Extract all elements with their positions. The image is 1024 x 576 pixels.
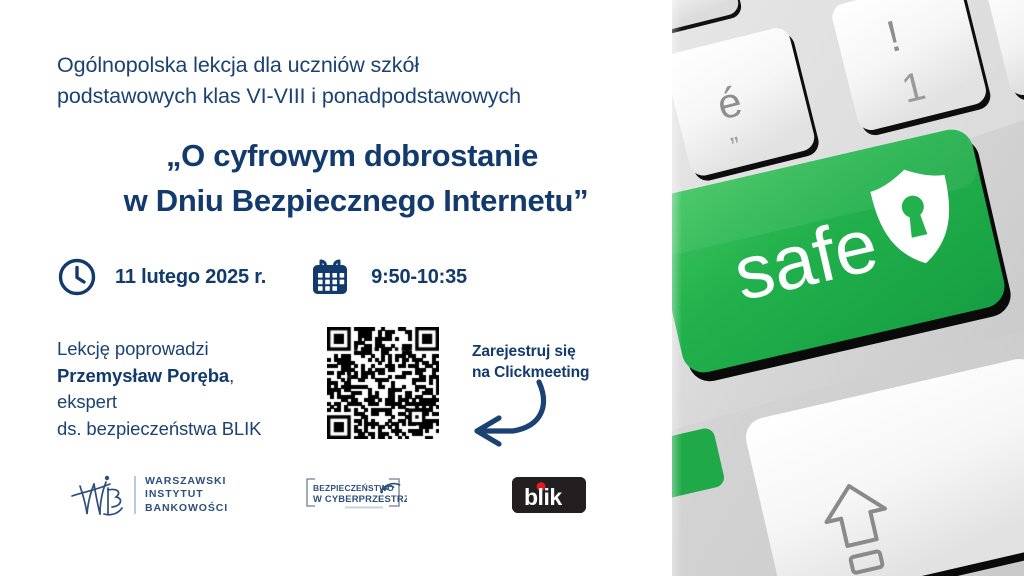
qr-code-image[interactable] (327, 327, 439, 439)
wib-word-1: WARSZAWSKI (145, 475, 228, 489)
wib-word-3: BANKOWOŚCI (145, 502, 228, 516)
subheading-line-2: podstawowych klas VI-VIII i ponadpodstaw… (57, 84, 521, 108)
logo-blik-image: blik (512, 477, 586, 513)
cyber-line-2: W CYBERPRZESTRZENI (313, 493, 407, 504)
calendar-icon (311, 257, 349, 297)
wib-divider (134, 476, 136, 514)
page-title: „O cyfrowym dobrostanie w Dniu Bezpieczn… (57, 133, 657, 223)
event-datetime: 11 lutego 2025 r. (57, 252, 467, 302)
register-cta-text: Zarejestruj się na Clickmeeting (472, 341, 642, 383)
poster-root: é ” ! 1 (0, 0, 1024, 576)
logo-cyber: BEZPIECZEŃSTWO W CYBERPRZESTRZENI (303, 476, 407, 512)
speaker-name: Przemysław Poręba (57, 365, 229, 386)
logo-wib: WARSZAWSKI INSTYTUT BANKOWOŚCI (70, 468, 228, 522)
speaker-info: Lekcję poprowadzi Przemysław Poręba, eks… (57, 336, 317, 442)
speaker-intro: Lekcję poprowadzi (57, 338, 209, 359)
subheading-line-1: Ogólnopolska lekcja dla uczniów szkół (57, 53, 419, 77)
title-line-2: w Dniu Bezpiecznego Internetu” (57, 178, 657, 223)
curved-arrow-down-left-icon (455, 378, 585, 453)
event-date: 11 lutego 2025 r. (115, 266, 266, 289)
speaker-name-suffix: , (229, 365, 234, 386)
wib-word-2: INSTYTUT (145, 488, 228, 502)
logo-cyber-image: BEZPIECZEŃSTWO W CYBERPRZESTRZENI (303, 476, 407, 512)
logo-blik: blik (512, 477, 586, 513)
cta-line-1: Zarejestruj się (472, 343, 576, 360)
keyboard-photo-image: é ” ! 1 (672, 0, 1024, 576)
clock-icon (57, 257, 97, 297)
qr-code[interactable] (327, 327, 439, 439)
subheading: Ogólnopolska lekcja dla uczniów szkół po… (57, 50, 657, 112)
blik-wordmark: blik (524, 484, 562, 510)
cyber-subtitle-blur (345, 506, 383, 508)
wib-wordmark: WARSZAWSKI INSTYTUT BANKOWOŚCI (145, 475, 228, 516)
keyboard-photo: é ” ! 1 (672, 0, 1024, 576)
speaker-role-line-2: ds. bezpieczeństwa BLIK (57, 418, 261, 439)
event-time: 9:50-10:35 (371, 266, 467, 289)
title-line-1: „O cyfrowym dobrostanie (57, 133, 657, 178)
content-panel: Ogólnopolska lekcja dla uczniów szkół po… (0, 0, 672, 576)
speaker-role-line-1: ekspert (57, 391, 117, 412)
wib-monogram-icon (70, 470, 132, 520)
